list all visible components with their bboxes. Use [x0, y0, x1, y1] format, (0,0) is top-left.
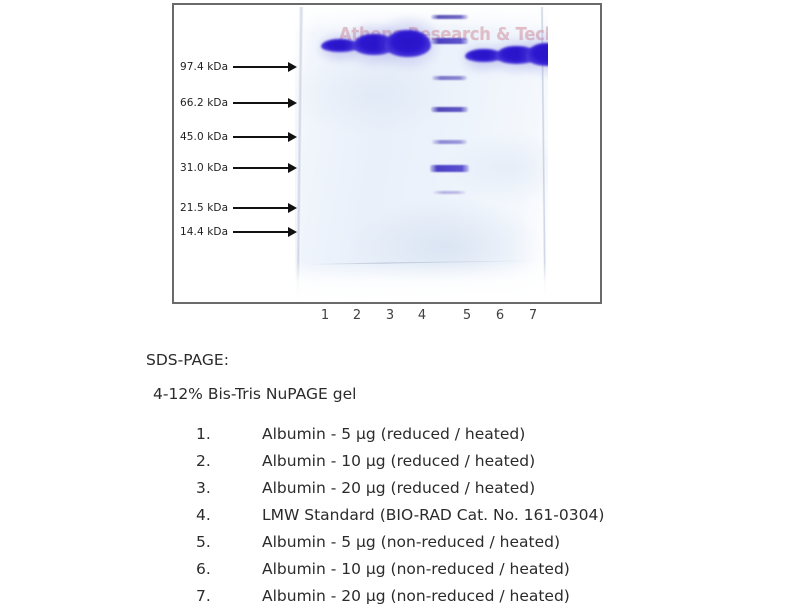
sample-index: 2. — [196, 452, 262, 470]
sample-legend-list: 1. Albumin - 5 µg (reduced / heated) 2. … — [196, 425, 796, 614]
gel-scan-image: Athens Research & Technology — [295, 7, 548, 299]
sample-index: 3. — [196, 479, 262, 497]
sample-index: 7. — [196, 587, 262, 605]
ladder-band-97 — [431, 15, 468, 19]
sample-description: Albumin - 10 µg (reduced / heated) — [262, 452, 535, 470]
mw-arrow-icon — [233, 163, 297, 173]
list-item: 2. Albumin - 10 µg (reduced / heated) — [196, 452, 796, 479]
lane-number-5: 5 — [460, 308, 474, 323]
list-item: 4. LMW Standard (BIO-RAD Cat. No. 161-03… — [196, 506, 796, 533]
ladder-band-21 — [432, 140, 467, 144]
list-item: 3. Albumin - 20 µg (reduced / heated) — [196, 479, 796, 506]
ladder-band-31 — [431, 107, 468, 112]
mw-arrow-icon — [233, 132, 297, 142]
mw-marker-row: 14.4 kDa — [180, 225, 300, 239]
gel-type-label: 4-12% Bis-Tris NuPAGE gel — [153, 385, 356, 403]
gel-band-lane-3 — [385, 30, 431, 57]
lane-number-6: 6 — [493, 308, 507, 323]
sample-description: Albumin - 5 µg (non-reduced / heated) — [262, 533, 560, 551]
lane-number-7: 7 — [526, 308, 540, 323]
gel-left-edge — [295, 7, 304, 299]
mw-label: 31.0 kDa — [180, 162, 228, 174]
ladder-band-14 — [430, 165, 469, 172]
sds-page-title: SDS-PAGE: — [146, 351, 229, 369]
mw-marker-row: 21.5 kDa — [180, 201, 300, 215]
mw-label: 97.4 kDa — [180, 61, 228, 73]
lane-number-3: 3 — [383, 308, 397, 323]
sample-description: Albumin - 20 µg (reduced / heated) — [262, 479, 535, 497]
sample-index: 4. — [196, 506, 262, 524]
lane-number-2: 2 — [350, 308, 364, 323]
sample-index: 5. — [196, 533, 262, 551]
list-item: 7. Albumin - 20 µg (non-reduced / heated… — [196, 587, 796, 614]
sample-description: Albumin - 10 µg (non-reduced / heated) — [262, 560, 570, 578]
lane-number-4: 4 — [415, 308, 429, 323]
mw-marker-row: 66.2 kDa — [180, 96, 300, 110]
mw-marker-row: 31.0 kDa — [180, 161, 300, 175]
sample-description: LMW Standard (BIO-RAD Cat. No. 161-0304) — [262, 506, 604, 524]
mw-marker-row: 45.0 kDa — [180, 130, 300, 144]
sample-description: Albumin - 20 µg (non-reduced / heated) — [262, 587, 570, 605]
mw-arrow-icon — [233, 98, 297, 108]
ladder-band-front — [433, 191, 466, 194]
mw-label: 14.4 kDa — [180, 226, 228, 238]
lane-number-1: 1 — [318, 308, 332, 323]
mw-arrow-icon — [233, 227, 297, 237]
gel-figure: Athens Research & Technology — [172, 3, 602, 304]
mw-marker-row: 97.4 kDa — [180, 60, 300, 74]
sample-description: Albumin - 5 µg (reduced / heated) — [262, 425, 525, 443]
gel-bottom-fade — [295, 261, 548, 299]
lane-number-strip: 1 2 3 4 5 6 7 — [172, 308, 602, 330]
sample-index: 1. — [196, 425, 262, 443]
list-item: 1. Albumin - 5 µg (reduced / heated) — [196, 425, 796, 452]
mw-label: 45.0 kDa — [180, 131, 228, 143]
mw-arrow-icon — [233, 203, 297, 213]
ladder-band-45 — [432, 76, 467, 80]
mw-label: 21.5 kDa — [180, 202, 228, 214]
mw-label: 66.2 kDa — [180, 97, 228, 109]
list-item: 6. Albumin - 10 µg (non-reduced / heated… — [196, 560, 796, 587]
sample-index: 6. — [196, 560, 262, 578]
list-item: 5. Albumin - 5 µg (non-reduced / heated) — [196, 533, 796, 560]
mw-arrow-icon — [233, 62, 297, 72]
